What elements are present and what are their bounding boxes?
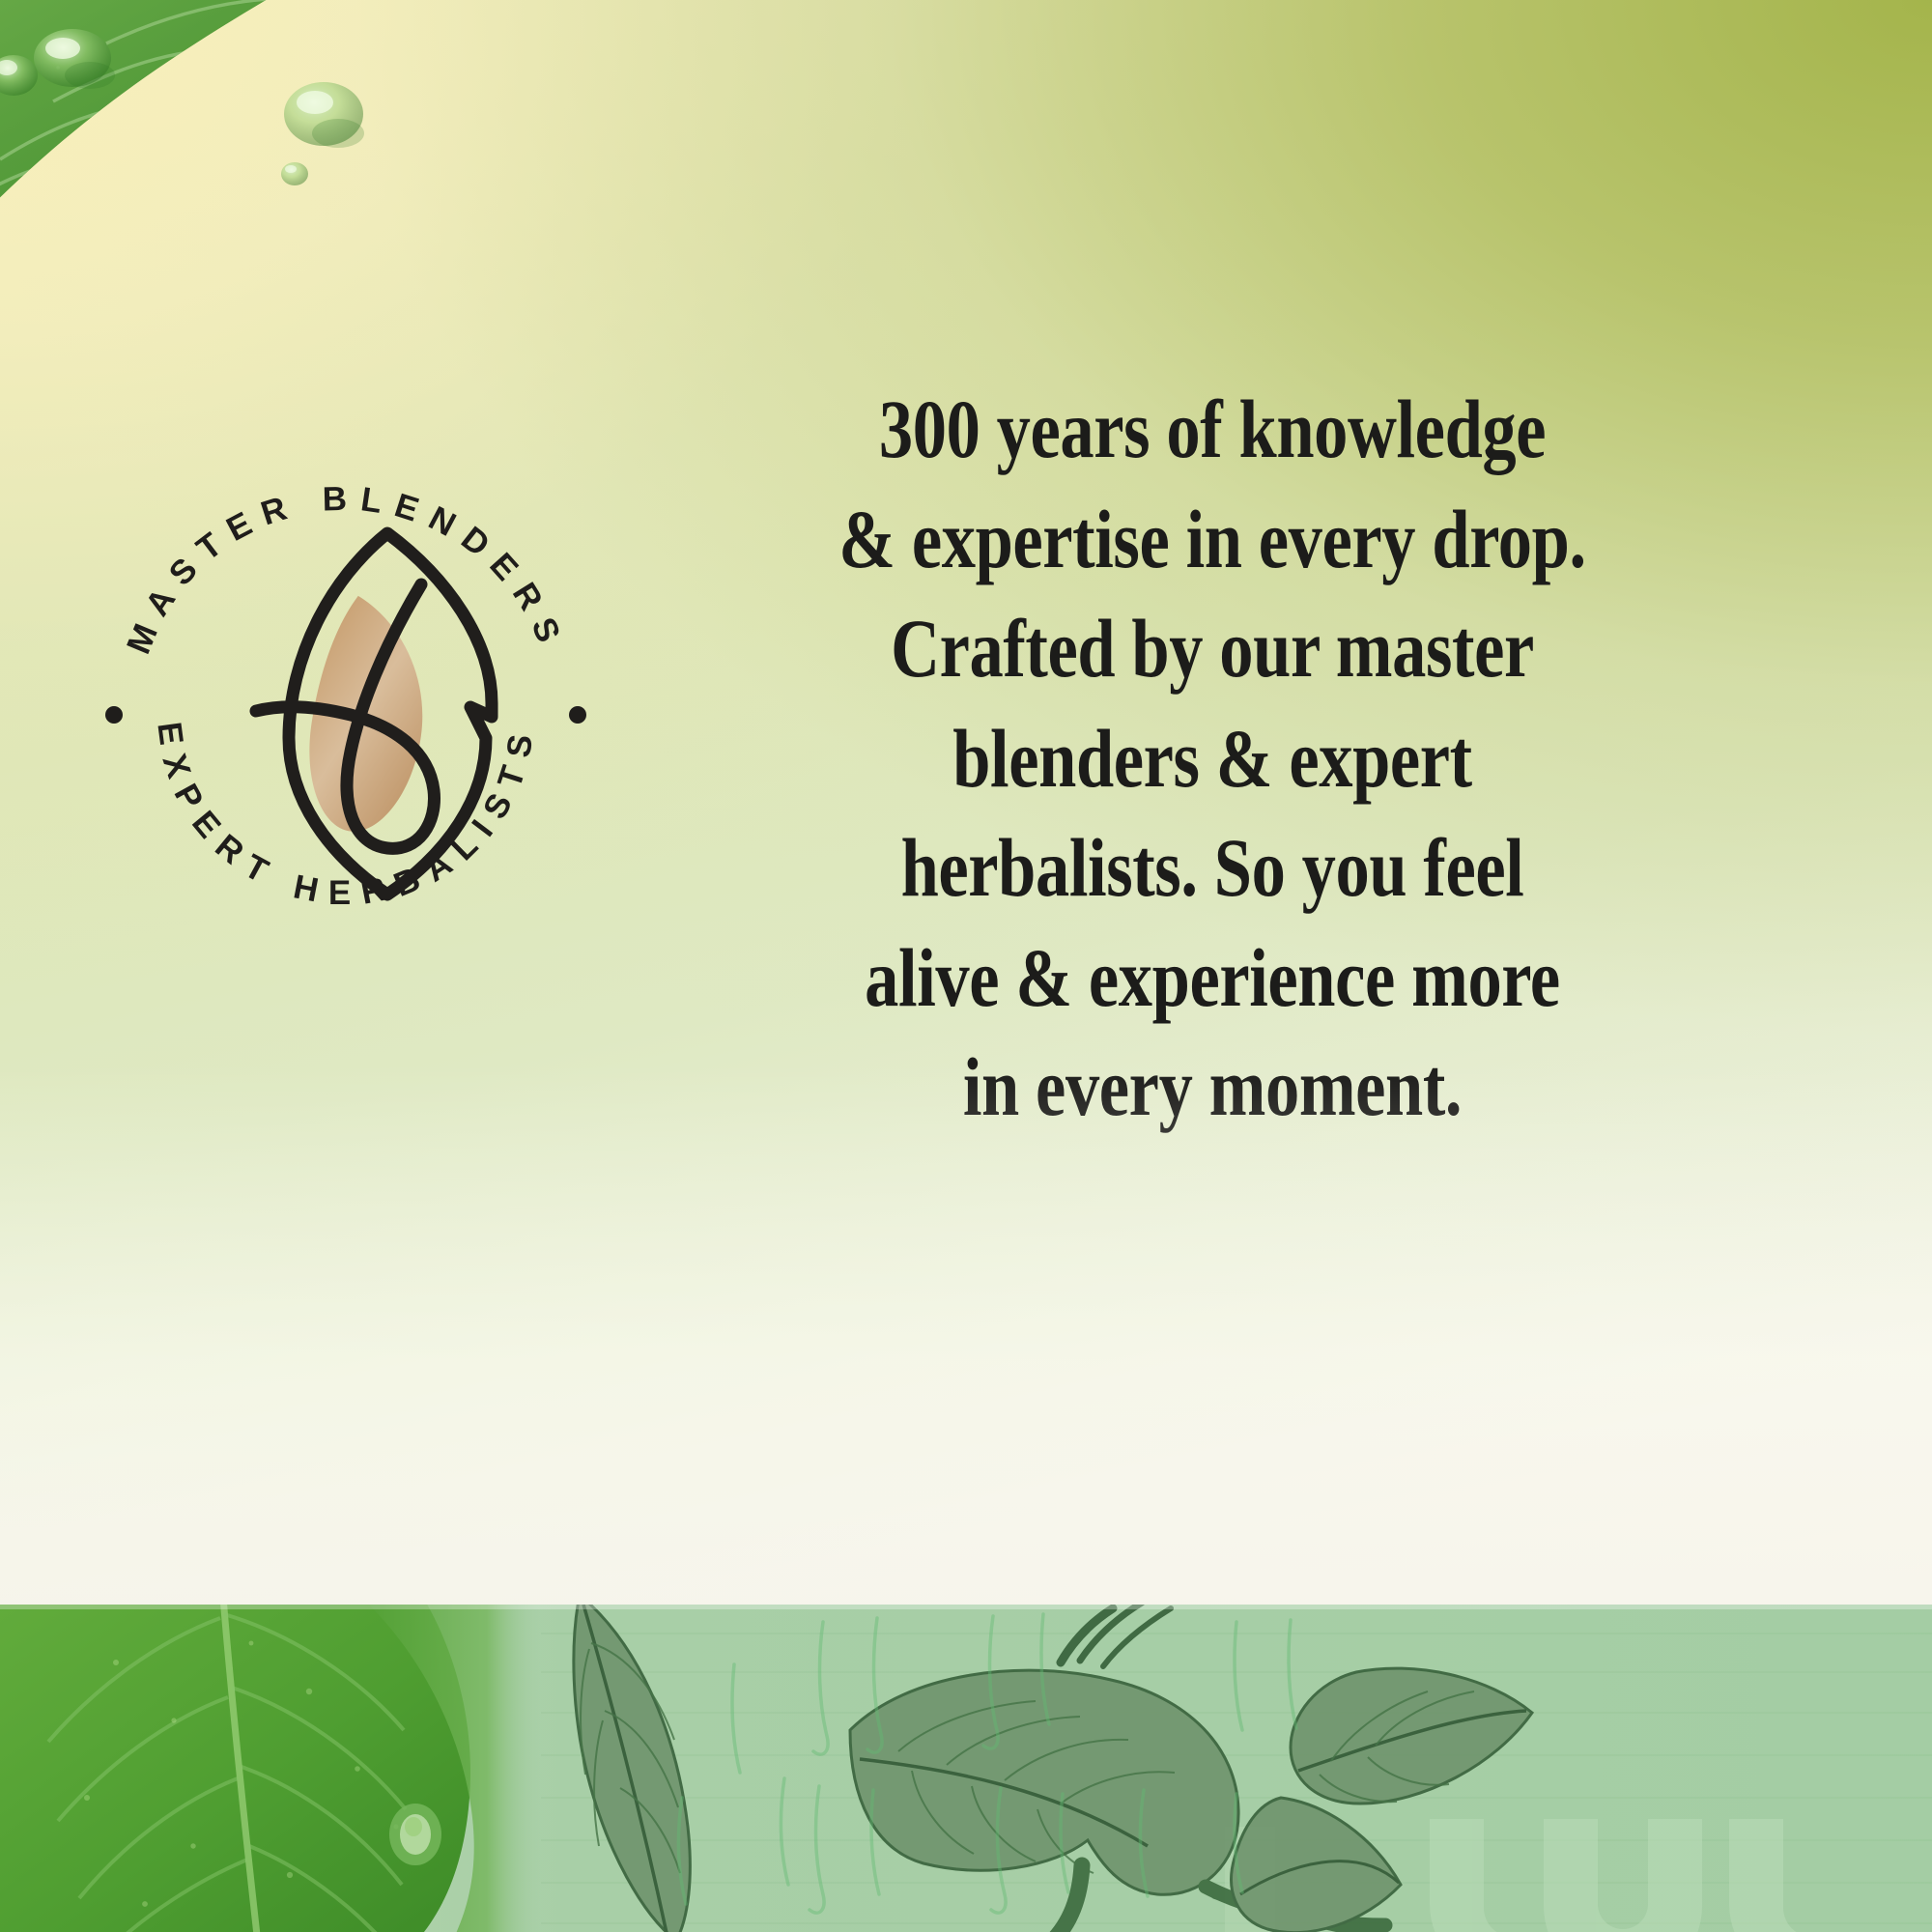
headline-copy: 300 years of knowledge & expertise in ev… [725, 375, 1700, 1143]
copy-line: 300 years of knowledge [725, 375, 1700, 485]
brand-panel-canvas: MASTER BLENDERS EXPERT HERBALISTS 300 y [0, 0, 1932, 1932]
copy-line: in every moment. [725, 1033, 1700, 1143]
badge-separator-dot-left [105, 706, 123, 724]
water-droplet-icon [389, 1804, 441, 1865]
copy-line: alive & experience more [725, 923, 1700, 1034]
copy-line: Crafted by our master [725, 594, 1700, 704]
bottom-imagery-band [0, 1605, 1932, 1932]
water-droplet-icon [284, 82, 364, 148]
copy-line: & expertise in every drop. [725, 485, 1700, 595]
copy-line: blenders & expert [725, 704, 1700, 814]
master-blenders-badge: MASTER BLENDERS EXPERT HERBALISTS [75, 446, 616, 987]
top-panel: MASTER BLENDERS EXPERT HERBALISTS 300 y [0, 0, 1932, 1605]
copy-line: herbalists. So you feel [725, 813, 1700, 923]
badge-separator-dot-right [569, 706, 586, 724]
water-droplet-icon [281, 162, 308, 185]
bottom-fade-overlay [0, 1064, 1932, 1605]
leaf-photo-top-left [0, 0, 454, 348]
